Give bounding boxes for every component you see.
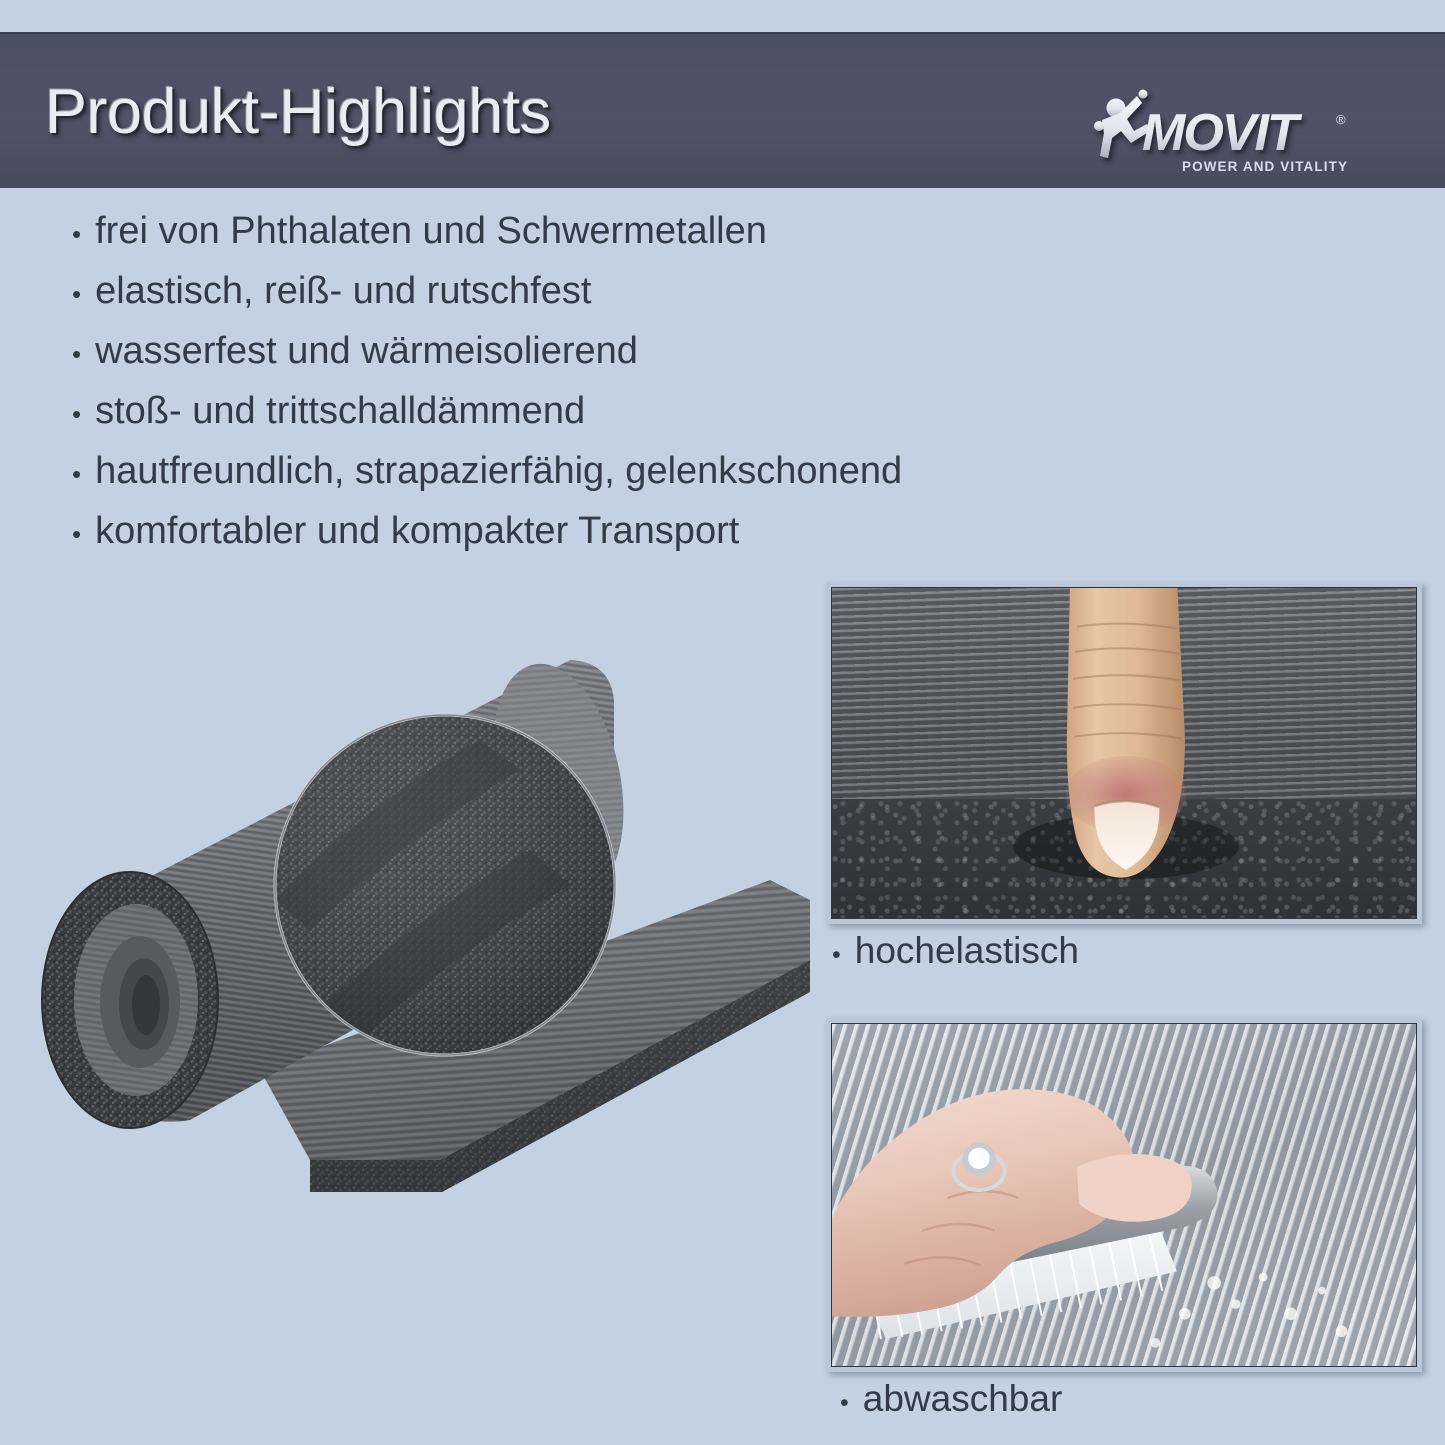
- bullet-icon: •: [72, 461, 81, 487]
- logo-tagline: POWER AND VITALITY: [1182, 159, 1348, 174]
- bullet-icon: •: [72, 521, 81, 547]
- logo-brand-text: MOVIT: [1142, 104, 1303, 162]
- feature-item: • komfortabler und kompakter Transport: [72, 512, 1082, 550]
- bullet-icon: •: [72, 341, 81, 367]
- rolled-exercise-mat-photo: [10, 600, 810, 1240]
- feature-label: wasserfest und wärmeisolierend: [95, 332, 638, 370]
- product-highlights-infographic: Produkt-Highlights: [0, 0, 1445, 1445]
- caption-label: abwaschbar: [863, 1378, 1063, 1420]
- bullet-icon: •: [72, 401, 81, 427]
- bullet-icon: •: [840, 1389, 849, 1418]
- thumb-icon: [832, 588, 1416, 918]
- feature-label: stoß- und trittschalldämmend: [95, 392, 585, 430]
- movit-logo: MOVIT ® POWER AND VITALITY: [1090, 86, 1360, 184]
- header-bar: Produkt-Highlights: [0, 32, 1445, 188]
- feature-item: • stoß- und trittschalldämmend: [72, 392, 1082, 430]
- feature-item: • wasserfest und wärmeisolierend: [72, 332, 1082, 370]
- thumb-press-foam-photo: [826, 582, 1422, 924]
- bullet-icon: •: [72, 221, 81, 247]
- page-title: Produkt-Highlights: [45, 76, 551, 148]
- feature-item: • hautfreundlich, strapazierfähig, gelen…: [72, 452, 1082, 490]
- feature-item: • elastisch, reiß- und rutschfest: [72, 272, 1082, 310]
- caption-hochelastisch: • hochelastisch: [832, 930, 1079, 972]
- feature-item: • frei von Phthalaten und Schwermetallen: [72, 212, 1082, 250]
- feature-list: • frei von Phthalaten und Schwermetallen…: [72, 212, 1082, 572]
- hand-brush-cleaning-photo: [826, 1018, 1422, 1372]
- feature-label: hautfreundlich, strapazierfähig, gelenks…: [95, 452, 902, 490]
- feature-label: frei von Phthalaten und Schwermetallen: [95, 212, 767, 250]
- caption-label: hochelastisch: [855, 930, 1079, 972]
- feature-label: komfortabler und kompakter Transport: [95, 512, 739, 550]
- caption-abwaschbar: • abwaschbar: [840, 1378, 1062, 1420]
- feature-label: elastisch, reiß- und rutschfest: [95, 272, 591, 310]
- bullet-icon: •: [72, 281, 81, 307]
- bullet-icon: •: [832, 941, 841, 970]
- logo-registered-icon: ®: [1336, 112, 1346, 127]
- soap-suds: [1150, 1273, 1347, 1348]
